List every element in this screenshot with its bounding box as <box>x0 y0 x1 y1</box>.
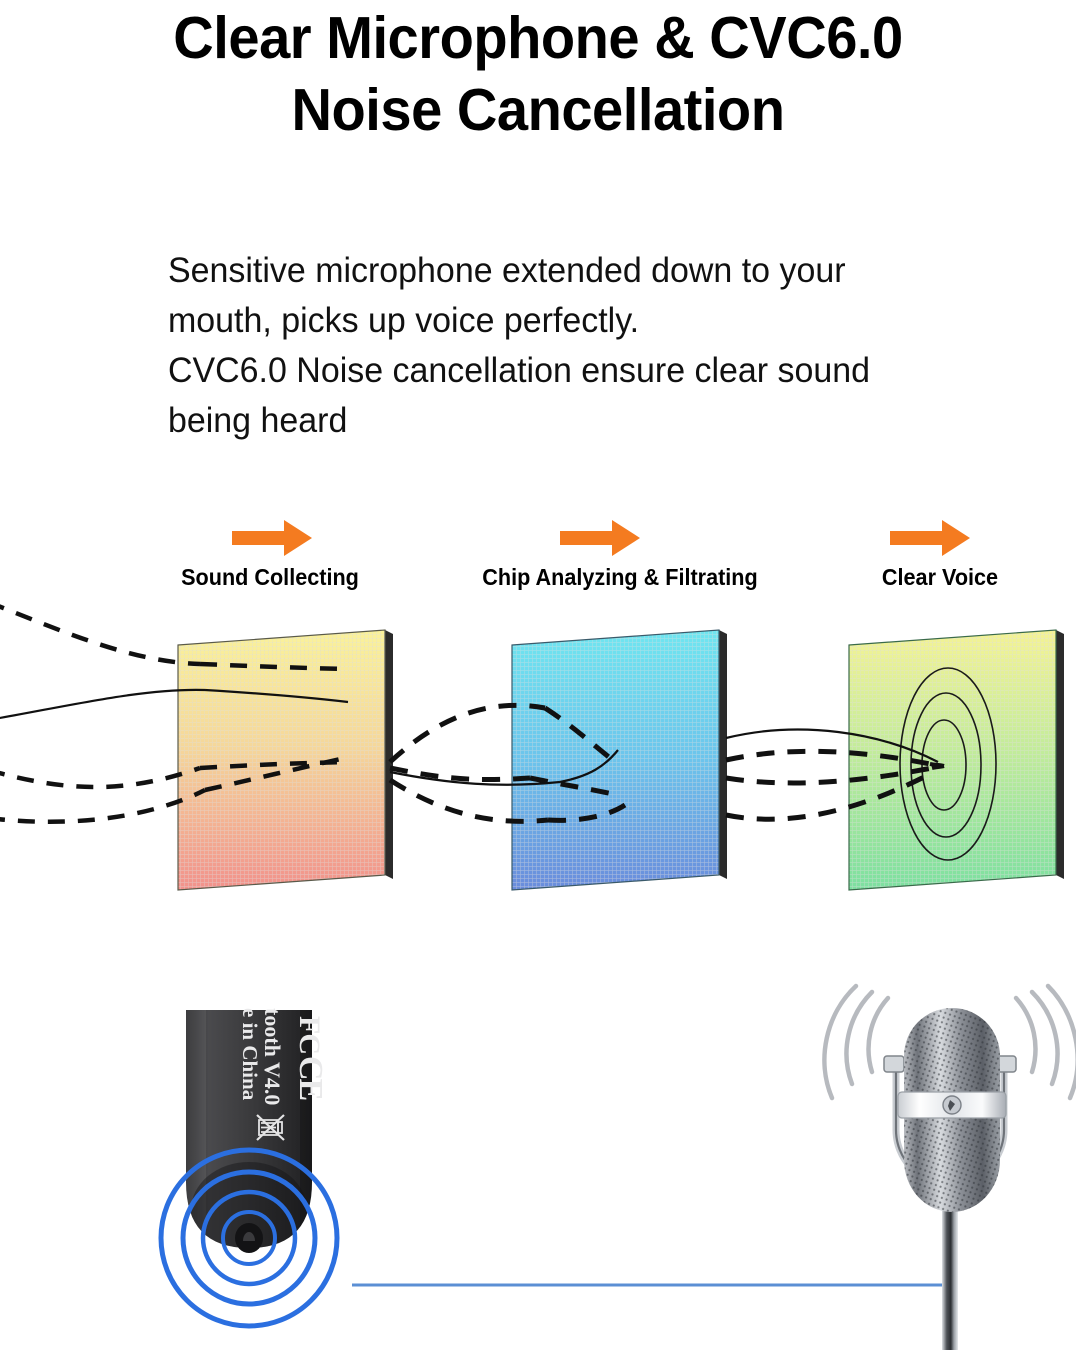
process-step-label: Clear Voice <box>799 564 1076 590</box>
signal-processing-diagram <box>0 590 1076 935</box>
process-step-label: Sound Collecting <box>129 564 411 590</box>
sound-wave-icon <box>1016 986 1076 1098</box>
device-mic-port <box>235 1223 263 1253</box>
device-and-microphone-scene: FC CE tooth V4.0 e in China <box>0 960 1076 1353</box>
description-paragraph: Sensitive microphone extended down to yo… <box>168 246 1008 446</box>
sound-collecting-panel <box>178 628 394 892</box>
description-line-3: CVC6.0 Noise cancellation ensure clear s… <box>168 346 983 396</box>
sound-wave-curves <box>0 602 944 822</box>
description-line-2: mouth, picks up voice perfectly. <box>168 296 983 346</box>
right-arrow-icon <box>560 518 640 558</box>
device-bluetooth-version: tooth V4.0 <box>260 1008 285 1105</box>
process-step-sound-collecting: Sound Collecting <box>120 518 420 590</box>
page-title-line-1: Clear Microphone & CVC6.0 <box>27 2 1049 74</box>
description-line-1: Sensitive microphone extended down to yo… <box>168 246 983 296</box>
page-title-line-2: Noise Cancellation <box>27 74 1049 146</box>
sound-wave-icon <box>824 986 888 1098</box>
device-origin-label: e in China <box>238 1008 262 1101</box>
page-title: Clear Microphone & CVC6.0 Noise Cancella… <box>0 0 1076 146</box>
process-step-chip-analyzing: Chip Analyzing & Filtrating <box>420 518 820 590</box>
clear-voice-panel <box>849 628 1065 892</box>
process-step-clear-voice: Clear Voice <box>790 518 1076 590</box>
device-brand-mark: FC <box>293 1016 326 1054</box>
description-line-4: being heard <box>168 396 983 446</box>
right-arrow-icon <box>232 518 312 558</box>
retro-microphone-icon <box>824 986 1076 1350</box>
right-arrow-icon <box>890 518 970 558</box>
chip-analyzing-panel <box>512 628 728 892</box>
process-step-label: Chip Analyzing & Filtrating <box>432 564 808 590</box>
device-ce-mark: CE <box>292 1056 329 1100</box>
